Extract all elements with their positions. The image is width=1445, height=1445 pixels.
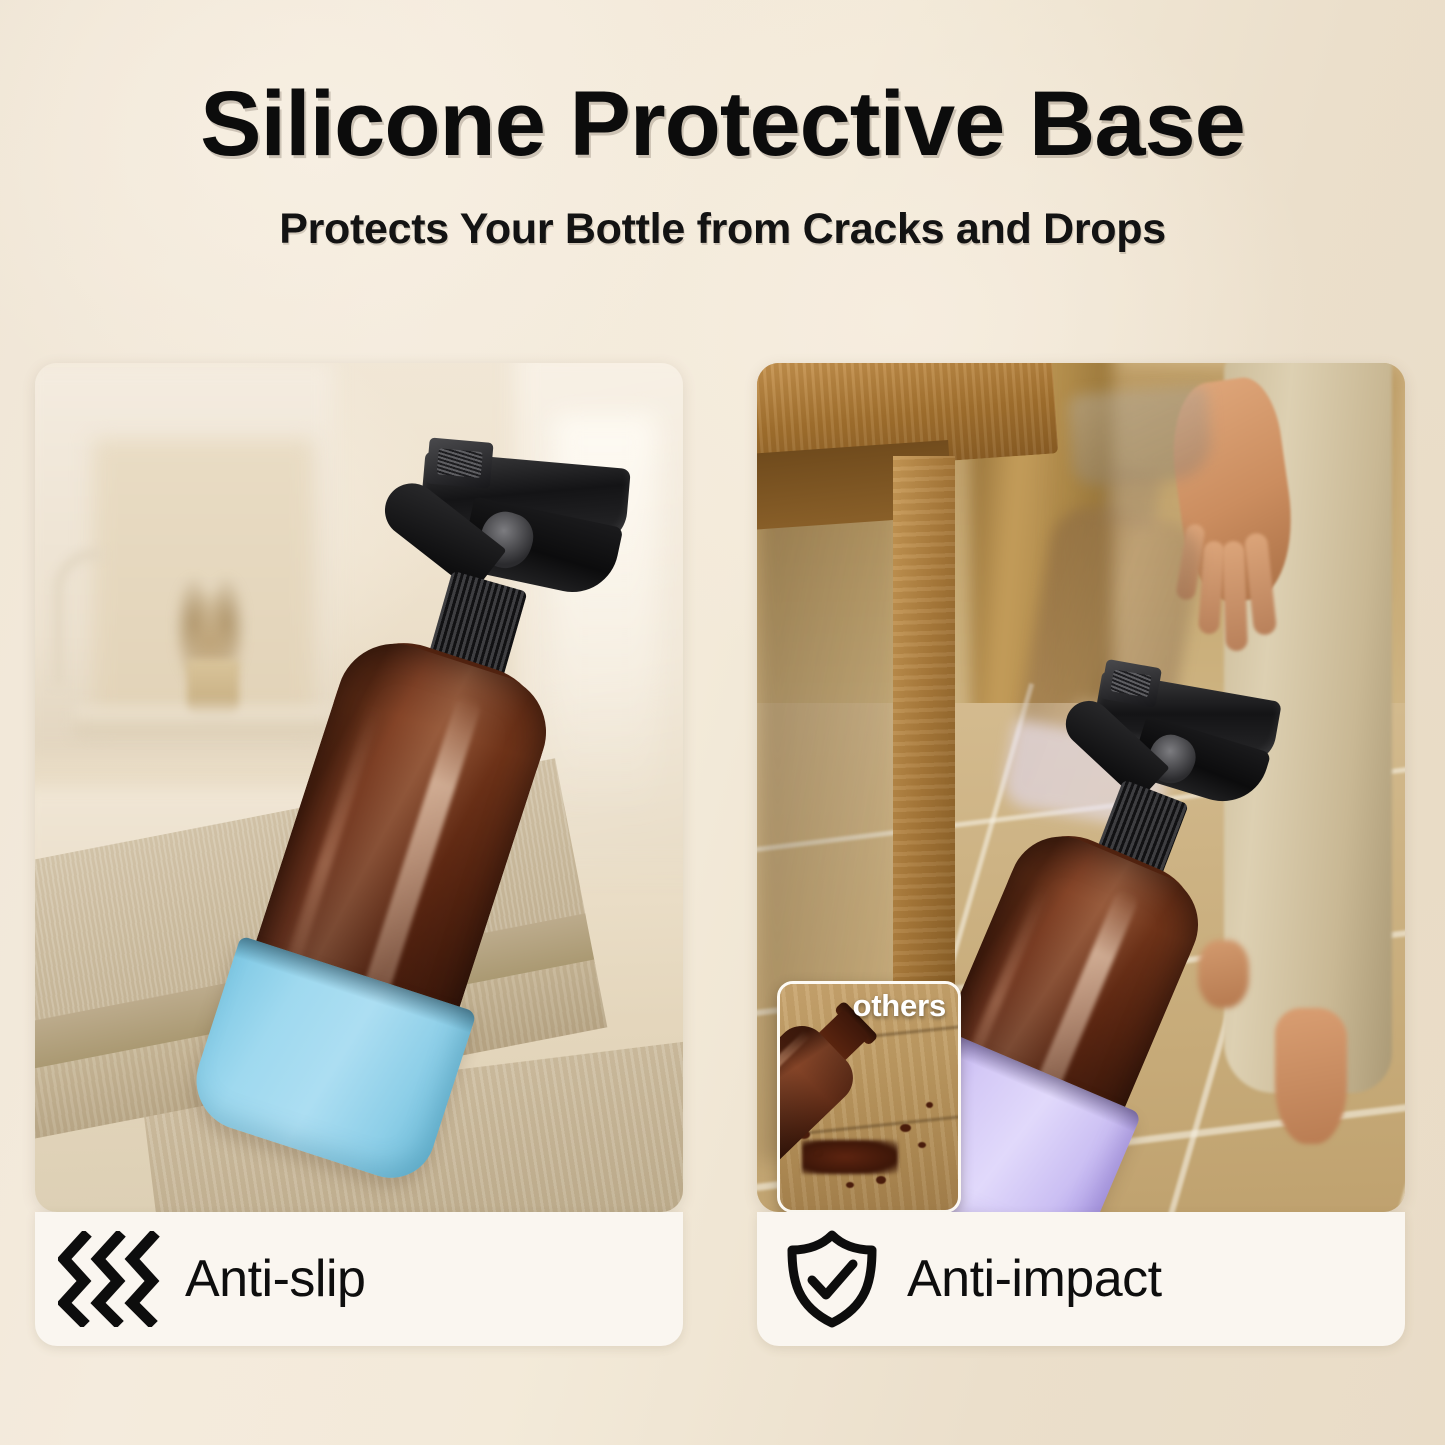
page-subtitle: Protects Your Bottle from Cracks and Dro… xyxy=(0,208,1445,251)
person-foot-front xyxy=(1275,1008,1346,1144)
feature-label-anti-impact: Anti-impact xyxy=(907,1249,1162,1309)
shield-check-icon xyxy=(757,1228,907,1330)
liquid-droplet xyxy=(918,1142,926,1148)
kitchen-faucet xyxy=(54,550,102,686)
inset-label: others xyxy=(852,988,946,1024)
zigzag-lines-icon xyxy=(35,1231,185,1327)
liquid-droplet xyxy=(876,1176,886,1184)
page-title: Silicone Protective Base xyxy=(0,78,1445,170)
liquid-droplet xyxy=(926,1102,933,1108)
liquid-droplet xyxy=(900,1124,911,1132)
photo-anti-impact: others xyxy=(757,363,1405,1212)
nozzle-grill xyxy=(437,448,483,478)
feature-label-anti-slip: Anti-slip xyxy=(185,1249,365,1309)
liquid-droplet xyxy=(846,1182,854,1188)
kitchen-shelf xyxy=(74,707,333,734)
panel-anti-impact: others xyxy=(757,363,1405,1212)
feature-strip-anti-slip: Anti-slip xyxy=(35,1212,683,1346)
person-finger xyxy=(1222,541,1248,652)
panel-anti-slip xyxy=(35,363,683,1212)
photo-anti-slip xyxy=(35,363,683,1212)
infographic-canvas: Silicone Protective Base Protects Your B… xyxy=(0,0,1445,1445)
others-comparison-inset: others xyxy=(777,981,961,1212)
feature-strip-anti-impact: Anti-impact xyxy=(757,1212,1405,1346)
